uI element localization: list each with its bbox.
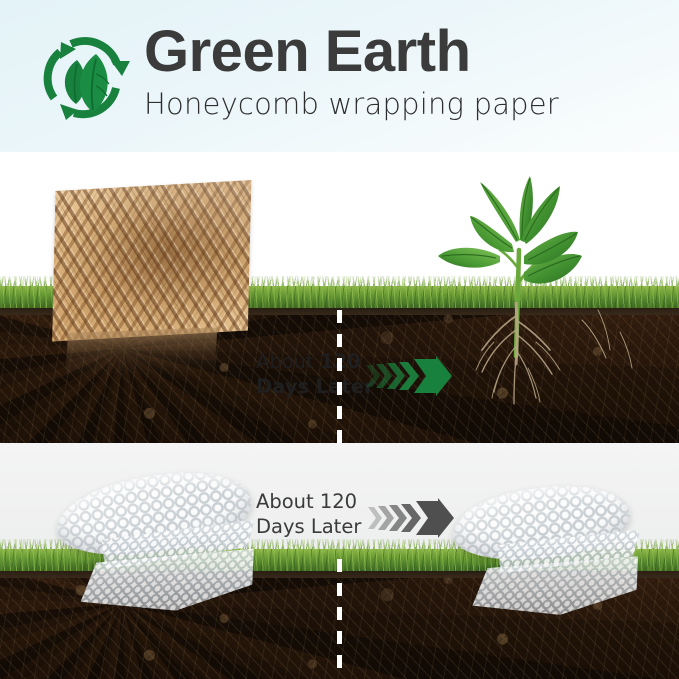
honeycomb-wrapping-paper-sheet [52,180,251,341]
plant-root-system [470,302,640,410]
honeycomb-paper-buried-portion [64,327,218,384]
header-banner: Green Earth Honeycomb wrapping paper [0,0,679,152]
gray-arrow-right-icon [368,498,454,543]
caption-days-later-plastic: About 120 Days Later [256,490,361,540]
caption-days-later-text: Days Later [256,375,374,400]
panel-biodegradable-paper: About 120 Days Later [0,152,679,443]
brand-subtitle: Honeycomb wrapping paper [144,86,651,124]
transition-label-group-plastic: About 120 Days Later [256,490,361,540]
dashed-divider-top-panel [337,310,342,443]
caption-prefix-2: About [256,490,320,513]
product-infographic-poster: Green Earth Honeycomb wrapping paper [0,0,679,679]
transition-label-group-paper: About 120 Days Later [256,350,374,400]
recycle-leaves-logo [30,24,138,132]
caption-days-later-paper: About 120 Days Later [256,350,374,400]
dashed-divider-bottom-panel [337,559,342,679]
brand-title: Green Earth [144,22,651,81]
caption-days-later-text-2: Days Later [256,515,361,540]
caption-days-value-2: 120 [320,490,357,513]
caption-prefix: About [256,350,320,373]
header-text-block: Green Earth Honeycomb wrapping paper [138,20,651,124]
green-arrow-right-icon [366,356,452,401]
panel-non-biodegradable-plastic: About 120 Days Later [0,443,679,679]
